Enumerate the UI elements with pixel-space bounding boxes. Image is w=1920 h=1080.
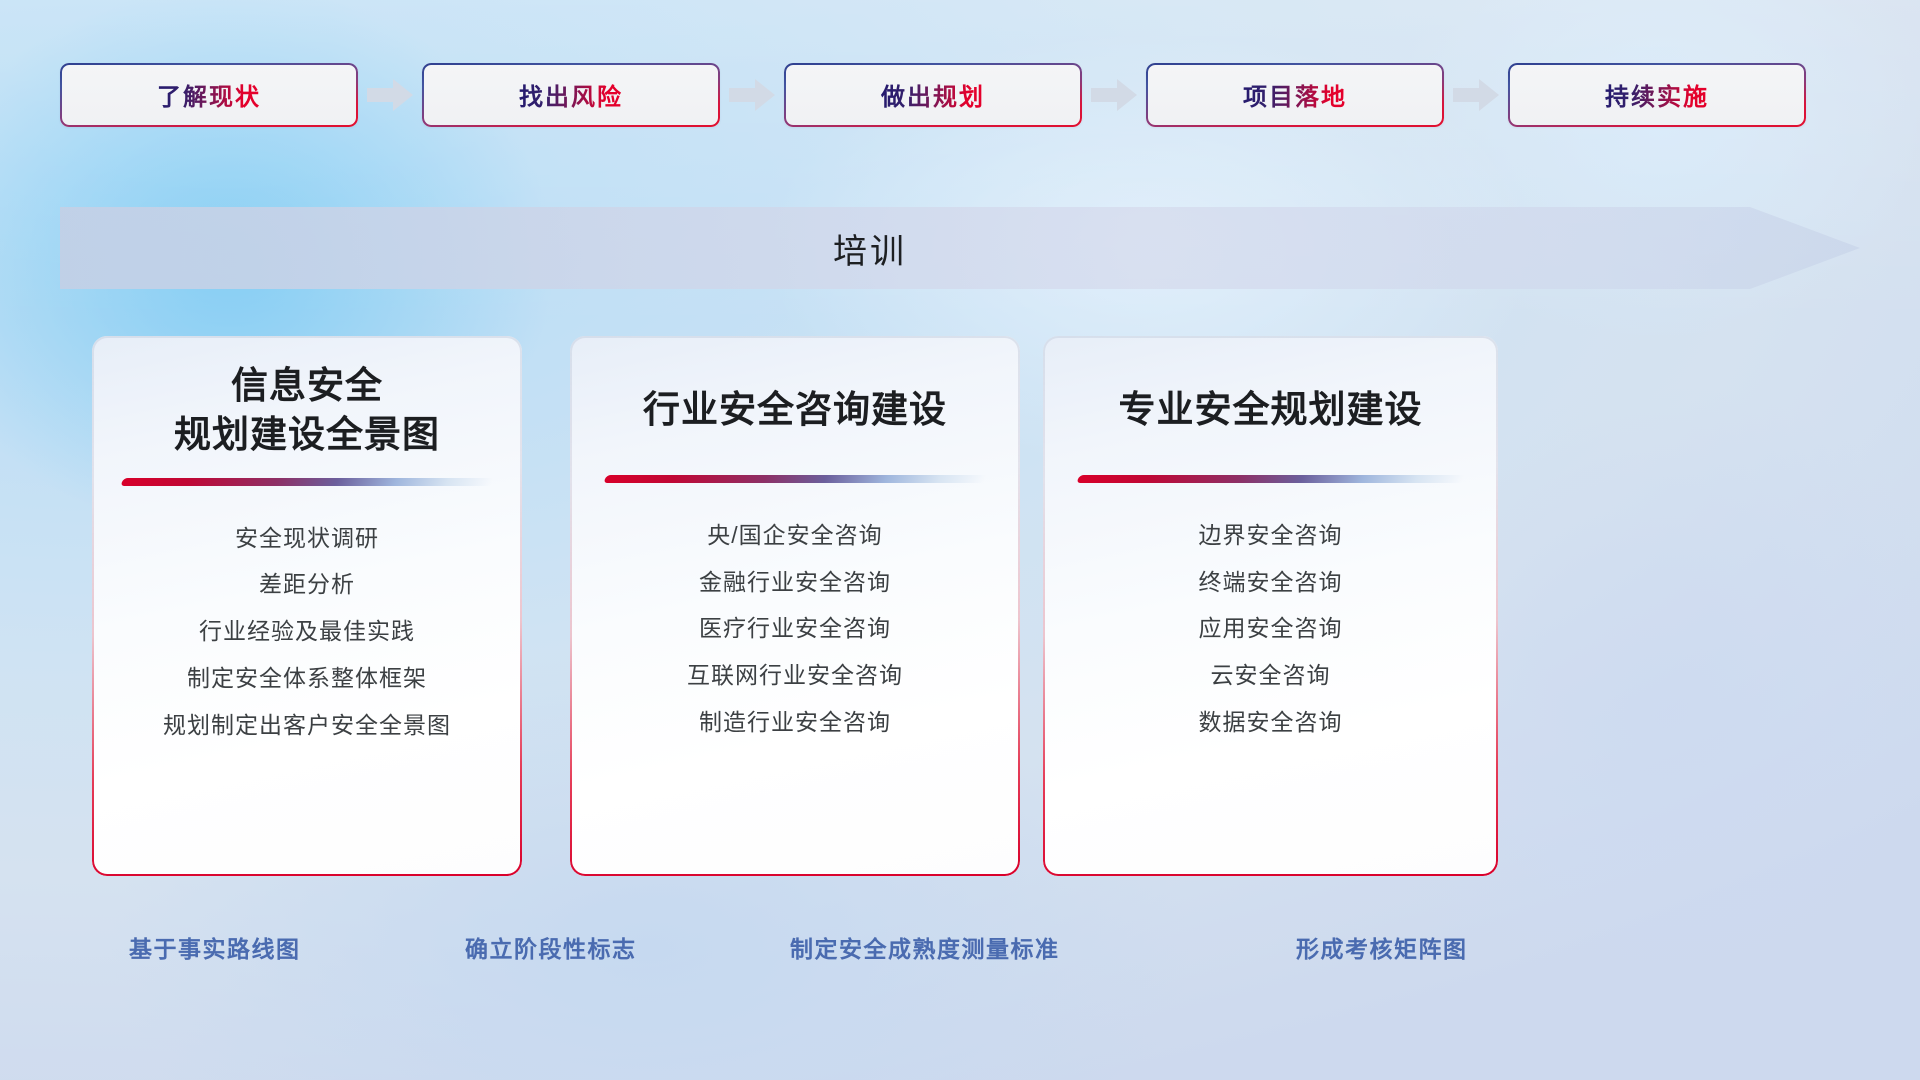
list-item: 央/国企安全咨询 [707,517,882,554]
card-title: 行业安全咨询建设 [643,386,947,435]
card-2[interactable]: 行业安全咨询建设 央/国企安全咨询 金融行业安全咨询 医疗行业安全咨询 互联网行… [570,336,1020,876]
card-list: 边界安全咨询 终端安全咨询 应用安全咨询 云安全咨询 数据安全咨询 [1199,517,1343,741]
list-item: 差距分析 [259,566,355,603]
arrow-right-icon [367,79,413,111]
list-item: 数据安全咨询 [1199,704,1343,741]
step-box-4[interactable]: 项目落地 [1146,63,1444,127]
list-item: 金融行业安全咨询 [699,564,891,601]
footer-note-4: 形成考核矩阵图 [1296,930,1468,964]
step-label: 项目落地 [1243,77,1347,112]
list-item: 安全现状调研 [235,520,379,557]
step-box-1[interactable]: 了解现状 [60,63,358,127]
step-label: 了解现状 [157,77,261,112]
footer-note-2: 确立阶段性标志 [465,930,637,964]
card-1[interactable]: 信息安全 规划建设全景图 安全现状调研 差距分析 行业经验及最佳实践 制定安全体… [92,336,522,876]
card-list: 央/国企安全咨询 金融行业安全咨询 医疗行业安全咨询 互联网行业安全咨询 制造行… [687,517,903,741]
list-item: 应用安全咨询 [1199,610,1343,647]
list-item: 医疗行业安全咨询 [699,610,891,647]
arrow-right-icon [1453,79,1499,111]
footer-note-3: 制定安全成熟度测量标准 [790,930,1060,964]
step-label: 找出风险 [519,77,623,112]
card-3[interactable]: 专业安全规划建设 边界安全咨询 终端安全咨询 应用安全咨询 云安全咨询 数据安全… [1043,336,1498,876]
list-item: 云安全咨询 [1211,657,1331,694]
card-list: 安全现状调研 差距分析 行业经验及最佳实践 制定安全体系整体框架 规划制定出客户… [163,520,451,744]
step-box-5[interactable]: 持续实施 [1508,63,1806,127]
list-item: 边界安全咨询 [1199,517,1343,554]
list-item: 制造行业安全咨询 [699,704,891,741]
card-divider [1076,475,1465,483]
training-label: 培训 [60,207,1860,289]
footer-note-1: 基于事实路线图 [129,930,301,964]
step-label: 做出规划 [881,77,985,112]
step-box-2[interactable]: 找出风险 [422,63,720,127]
card-divider [120,478,494,486]
card-title: 信息安全 规划建设全景图 [174,362,440,460]
step-box-3[interactable]: 做出规划 [784,63,1082,127]
card-group: 信息安全 规划建设全景图 安全现状调研 差距分析 行业经验及最佳实践 制定安全体… [0,336,1920,876]
step-label: 持续实施 [1605,77,1709,112]
footer-note-row: 基于事实路线图 确立阶段性标志 制定安全成熟度测量标准 形成考核矩阵图 [0,930,1920,976]
arrow-right-icon [1091,79,1137,111]
arrow-right-icon [729,79,775,111]
list-item: 制定安全体系整体框架 [187,660,427,697]
list-item: 规划制定出客户安全全景图 [163,707,451,744]
list-item: 互联网行业安全咨询 [687,657,903,694]
card-divider [603,475,987,483]
process-step-row: 了解现状 找出风险 做出规划 项目落地 持续实施 [60,62,1870,127]
training-banner: 培训 [60,207,1860,289]
list-item: 行业经验及最佳实践 [199,613,415,650]
list-item: 终端安全咨询 [1199,564,1343,601]
card-title: 专业安全规划建设 [1119,386,1423,435]
